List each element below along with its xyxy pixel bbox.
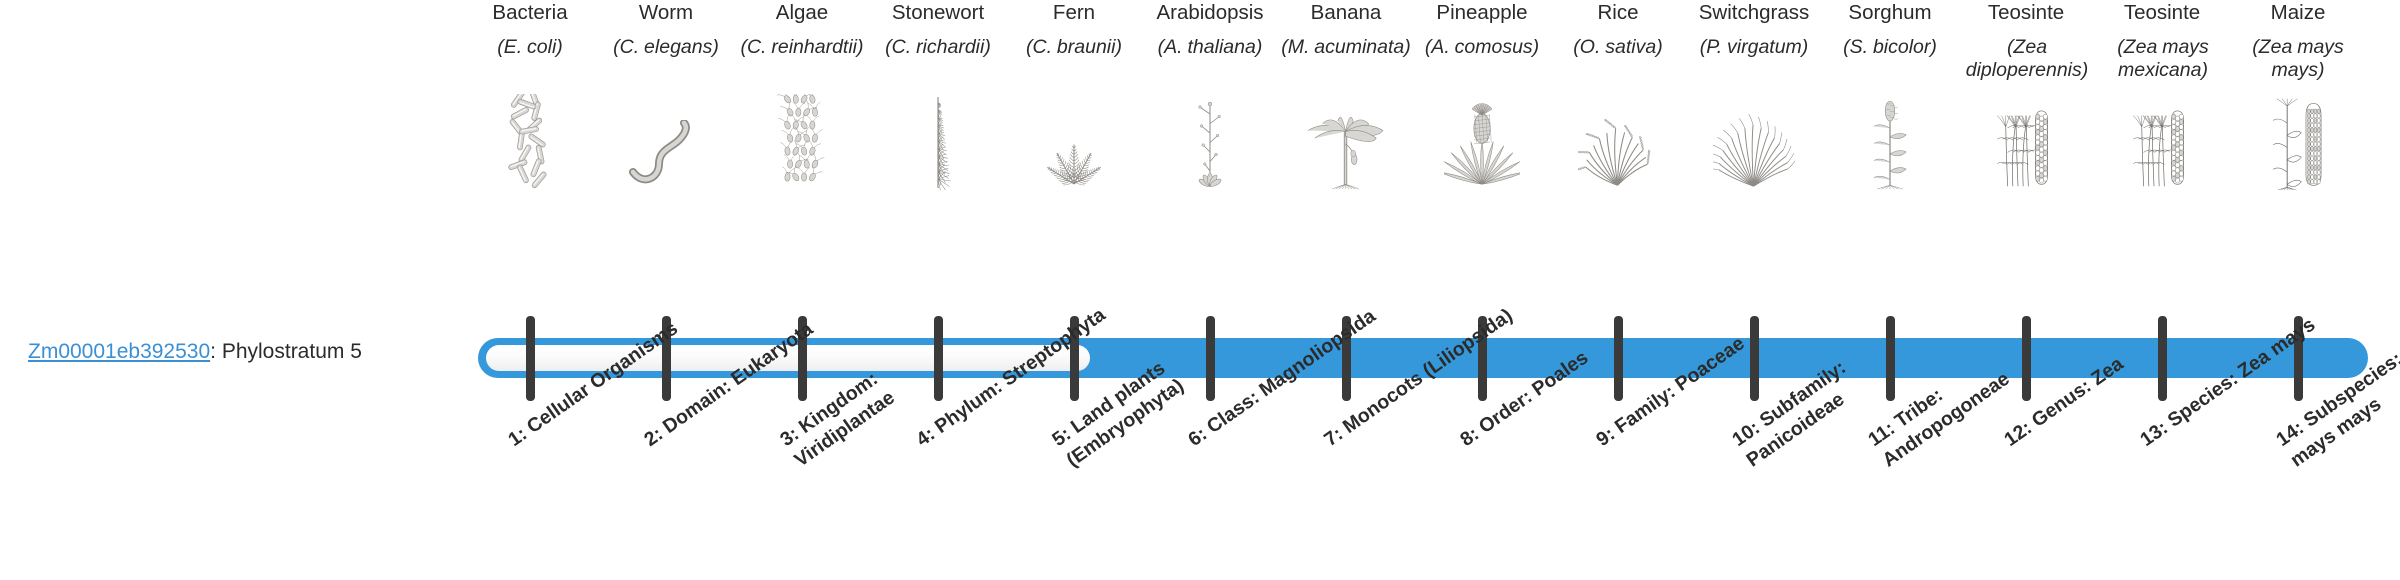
species-common-name: Fern <box>1006 0 1142 28</box>
algae-cells-icon <box>734 88 870 190</box>
species-scientific-name: (S. bicolor) <box>1822 36 1958 84</box>
teosinte-plant-ear-icon <box>1958 88 2094 190</box>
species-common-name: Banana <box>1278 0 1414 28</box>
phylostratum-figure: Bacteria(E. coli) <box>0 0 2400 580</box>
species-common-name: Bacteria <box>462 0 598 28</box>
species-scientific-name: (O. sativa) <box>1550 36 1686 84</box>
rank-labels: 1: Cellular Organisms2: Domain: Eukaryot… <box>478 415 2368 580</box>
species-scientific-name: (M. acuminata) <box>1278 36 1414 84</box>
species-column: Maize(Zea mays mays) <box>2230 0 2366 190</box>
rank-number: 13: <box>2136 417 2172 451</box>
species-column: Pineapple(A. comosus) <box>1414 0 1550 190</box>
phylostratum-value-text: Phylostratum 5 <box>222 340 362 363</box>
species-column: Fern(C. braunii) <box>1006 0 1142 190</box>
teosinte-plant-ear-icon <box>2094 88 2230 190</box>
species-scientific-name: (C. reinhardtii) <box>734 36 870 84</box>
species-column: Algae(C. reinhardtii) <box>734 0 870 190</box>
pineapple-plant-icon <box>1414 88 1550 190</box>
species-column: Teosinte(Zea mays mexicana) <box>2094 0 2230 190</box>
sorghum-plant-icon <box>1822 88 1958 190</box>
species-column: Worm(C. elegans) <box>598 0 734 190</box>
bacteria-rods-icon <box>462 88 598 190</box>
maize-plant-cob-icon <box>2230 88 2366 190</box>
stonewort-alga-icon <box>870 88 1006 190</box>
species-scientific-name: (Zea mays mays) <box>2230 36 2366 84</box>
gene-label-separator: : <box>210 340 222 363</box>
rice-plant-icon <box>1550 88 1686 190</box>
species-scientific-name: (A. thaliana) <box>1142 36 1278 84</box>
species-column: Bacteria(E. coli) <box>462 0 598 190</box>
switchgrass-plant-icon <box>1686 88 1822 190</box>
gene-id-link[interactable]: Zm00001eb392530 <box>28 340 210 363</box>
species-column: Rice(O. sativa) <box>1550 0 1686 190</box>
fern-frond-icon <box>1006 88 1142 190</box>
species-column: Stonewort(C. richardii) <box>870 0 1006 190</box>
species-common-name: Teosinte <box>1958 0 2094 28</box>
rank-number: 12: <box>2000 417 2036 451</box>
species-scientific-name: (C. braunii) <box>1006 36 1142 84</box>
phylostratum-tick[interactable] <box>526 316 535 401</box>
arabidopsis-plant-icon <box>1142 88 1278 190</box>
species-column: Sorghum(S. bicolor) <box>1822 0 1958 190</box>
species-common-name: Worm <box>598 0 734 28</box>
species-scientific-name: (A. comosus) <box>1414 36 1550 84</box>
species-scientific-name: (Zea mays mexicana) <box>2087 36 2239 84</box>
species-scientific-name: (P. virgatum) <box>1686 36 1822 84</box>
species-column: Arabidopsis(A. thaliana) <box>1142 0 1278 190</box>
species-common-name: Switchgrass <box>1686 0 1822 28</box>
species-scientific-name: (E. coli) <box>462 36 598 84</box>
species-common-name: Stonewort <box>870 0 1006 28</box>
species-common-name: Algae <box>734 0 870 28</box>
species-column: Switchgrass(P. virgatum) <box>1686 0 1822 190</box>
banana-palm-icon <box>1278 88 1414 190</box>
species-scientific-name: (C. richardii) <box>870 36 1006 84</box>
species-common-name: Pineapple <box>1414 0 1550 28</box>
species-common-name: Teosinte <box>2094 0 2230 28</box>
species-column: Banana(M. acuminata) <box>1278 0 1414 190</box>
species-common-name: Arabidopsis <box>1142 0 1278 28</box>
species-common-name: Maize <box>2230 0 2366 28</box>
species-scientific-name: (C. elegans) <box>598 36 734 84</box>
species-common-name: Sorghum <box>1822 0 1958 28</box>
species-columns: Bacteria(E. coli) <box>478 0 2368 310</box>
species-scientific-name: (Zea diploperennis) <box>1951 36 2103 84</box>
species-column: Teosinte(Zea diploperennis) <box>1958 0 2094 190</box>
gene-phylostratum-label: Zm00001eb392530: Phylostratum 5 <box>28 339 362 365</box>
species-common-name: Rice <box>1550 0 1686 28</box>
nematode-worm-icon <box>598 88 734 190</box>
